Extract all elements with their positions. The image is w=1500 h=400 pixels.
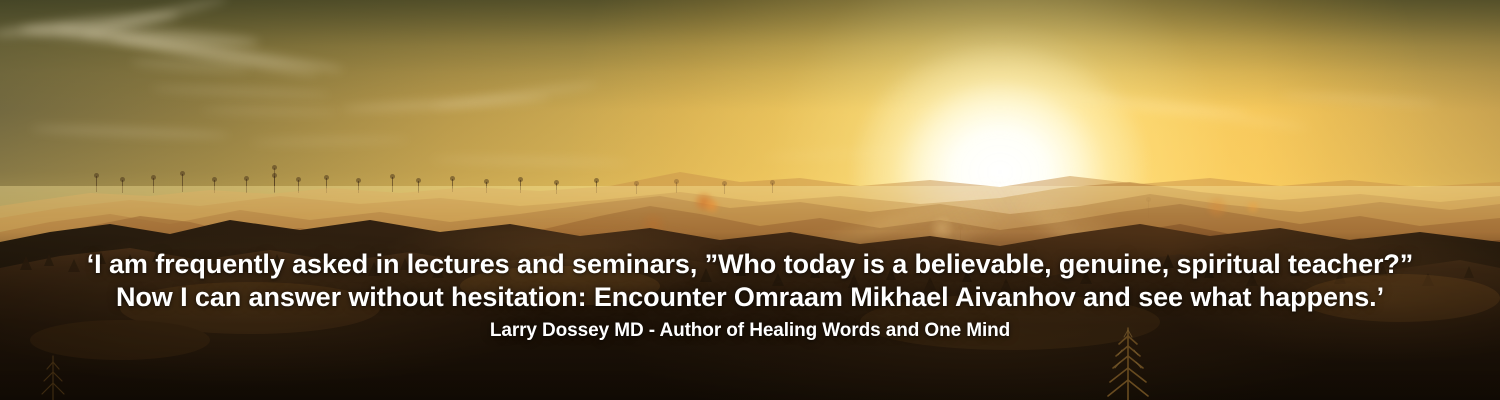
quote-line-2: Now I can answer without hesitation: Enc… [0, 282, 1500, 312]
quote-line-1: ‘I am frequently asked in lectures and s… [0, 249, 1500, 279]
quote-attribution: Larry Dossey MD - Author of Healing Word… [0, 320, 1500, 342]
sunset-quote-banner: ‘I am frequently asked in lectures and s… [0, 0, 1500, 400]
quote-block: ‘I am frequently asked in lectures and s… [0, 0, 1500, 400]
